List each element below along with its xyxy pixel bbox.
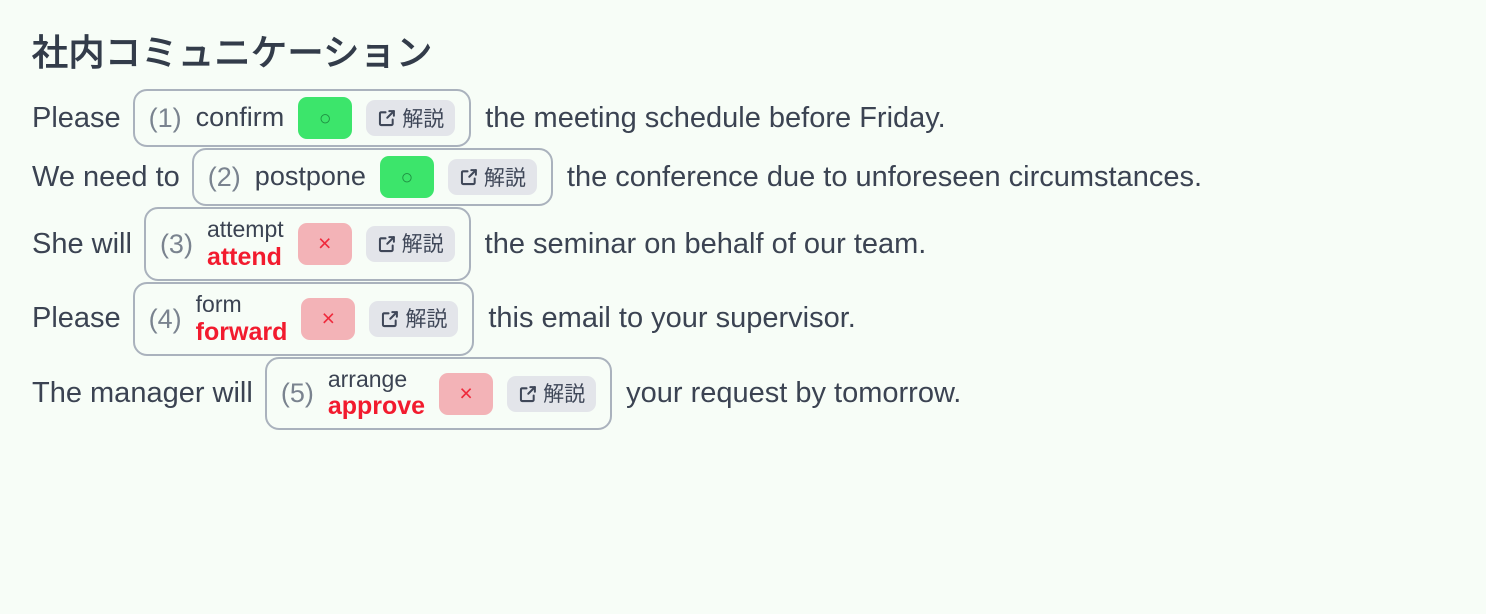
sentence-lead-text: We need to — [32, 160, 192, 195]
explain-button-label: 解説 — [402, 109, 444, 130]
external-link-icon — [376, 233, 398, 255]
result-badge-incorrect: × — [439, 373, 493, 415]
explain-button-label: 解説 — [484, 168, 526, 189]
sentence-lead-text: She will — [32, 227, 144, 262]
correct-answer-text: attend — [207, 244, 284, 271]
explain-button-5[interactable]: 解説 — [507, 376, 596, 412]
user-answer-text: form — [196, 292, 288, 317]
page-title: 社内コミュニケーション — [32, 30, 1486, 75]
external-link-icon — [517, 383, 539, 405]
circle-mark-icon: ○ — [319, 108, 332, 129]
result-badge-incorrect: × — [298, 223, 352, 265]
blank-number: (5) — [281, 377, 314, 409]
question-row-5: The manager will (5) arrangeapprove × 解説… — [32, 357, 1486, 431]
external-link-icon — [458, 166, 480, 188]
cross-mark-icon: × — [459, 382, 472, 405]
explain-button-label: 解説 — [402, 234, 444, 255]
sentence-lead-text: The manager will — [32, 376, 265, 411]
explain-button-1[interactable]: 解説 — [366, 100, 455, 136]
answer-card[interactable]: (5) arrangeapprove × 解説 — [265, 357, 612, 431]
explain-button-4[interactable]: 解説 — [369, 301, 458, 337]
user-answer-text: attempt — [207, 217, 284, 242]
answer-stack: confirm — [196, 103, 285, 132]
correct-answer-text: postpone — [255, 162, 366, 191]
result-badge-incorrect: × — [301, 298, 355, 340]
user-answer-text: arrange — [328, 367, 425, 392]
correct-answer-text: forward — [196, 319, 288, 346]
sentence-trail-text: the seminar on behalf of our team. — [471, 227, 927, 262]
answer-card[interactable]: (3) attemptattend × 解説 — [144, 207, 471, 281]
explain-button-label: 解説 — [405, 309, 447, 330]
result-badge-correct: ○ — [298, 97, 352, 139]
blank-number: (1) — [149, 102, 182, 134]
answer-stack: postpone — [255, 162, 366, 191]
cross-mark-icon: × — [322, 307, 335, 330]
sentence-trail-text: the conference due to unforeseen circums… — [553, 160, 1202, 195]
question-row-3: She will (3) attemptattend × 解説 the semi… — [32, 207, 1486, 281]
explain-button-3[interactable]: 解説 — [366, 226, 455, 262]
answer-stack: attemptattend — [207, 217, 284, 271]
answer-card[interactable]: (1) confirm ○ 解説 — [133, 89, 472, 147]
sentence-lead-text: Please — [32, 101, 133, 136]
sentence-trail-text: your request by tomorrow. — [612, 376, 961, 411]
sentence-trail-text: the meeting schedule before Friday. — [471, 101, 946, 136]
explain-button-2[interactable]: 解説 — [448, 159, 537, 195]
correct-answer-text: approve — [328, 393, 425, 420]
blank-number: (2) — [208, 161, 241, 193]
external-link-icon — [379, 308, 401, 330]
circle-mark-icon: ○ — [401, 167, 414, 188]
sentence-trail-text: this email to your supervisor. — [474, 301, 855, 336]
result-badge-correct: ○ — [380, 156, 434, 198]
question-row-1: Please (1) confirm ○ 解説 the meeting sche… — [32, 89, 1486, 147]
blank-number: (4) — [149, 303, 182, 335]
blank-number: (3) — [160, 228, 193, 260]
question-list: Please (1) confirm ○ 解説 the meeting sche… — [32, 89, 1486, 430]
answer-card[interactable]: (2) postpone ○ 解説 — [192, 148, 553, 206]
question-row-4: Please (4) formforward × 解説 this email t… — [32, 282, 1486, 356]
correct-answer-text: confirm — [196, 103, 285, 132]
explain-button-label: 解説 — [543, 384, 585, 405]
answer-stack: arrangeapprove — [328, 367, 425, 421]
answer-card[interactable]: (4) formforward × 解説 — [133, 282, 475, 356]
quiz-results-page: 社内コミュニケーション Please (1) confirm ○ 解説 the — [0, 0, 1486, 614]
question-row-2: We need to (2) postpone ○ 解説 the confere… — [32, 148, 1486, 206]
sentence-lead-text: Please — [32, 301, 133, 336]
answer-stack: formforward — [196, 292, 288, 346]
cross-mark-icon: × — [318, 232, 331, 255]
external-link-icon — [376, 107, 398, 129]
